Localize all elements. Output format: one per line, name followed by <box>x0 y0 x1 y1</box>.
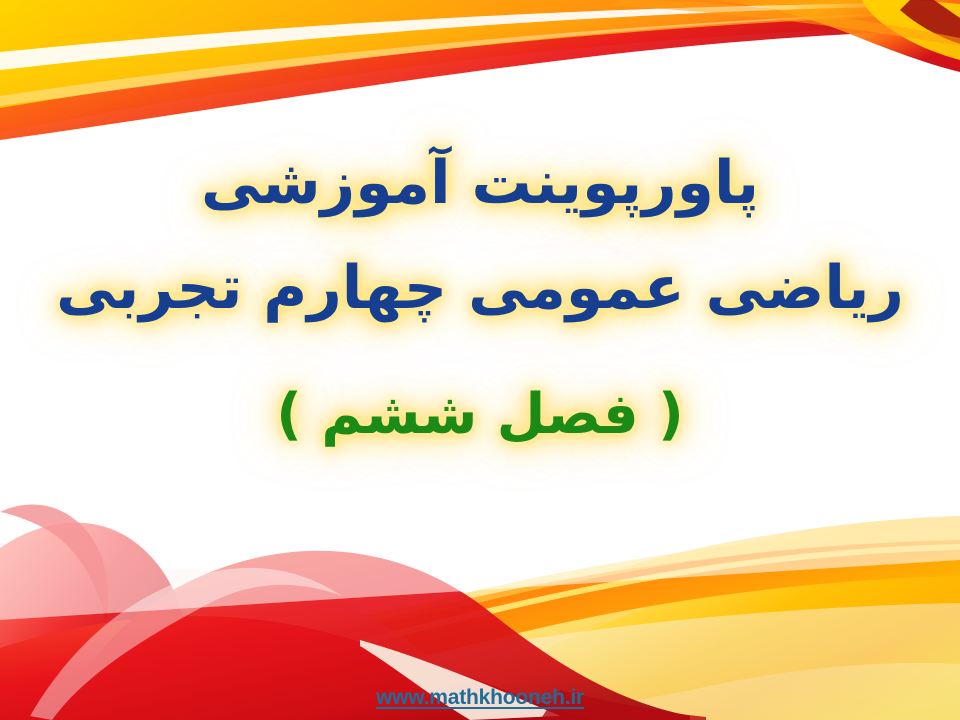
website-link[interactable]: www.mathkhooneh.ir <box>376 686 584 710</box>
title-line-1: پاورپوینت آموزشی <box>0 150 960 217</box>
subtitle-chapter: ( فصل ششم ) <box>0 384 960 447</box>
title-slide: پاورپوینت آموزشی ریاضی عمومی چهارم تجربی… <box>0 0 960 720</box>
footer: www.mathkhooneh.ir <box>0 686 960 710</box>
title-block: پاورپوینت آموزشی ریاضی عمومی چهارم تجربی… <box>0 150 960 447</box>
slide-content: پاورپوینت آموزشی ریاضی عمومی چهارم تجربی… <box>0 0 960 720</box>
title-line-2: ریاضی عمومی چهارم تجربی <box>0 255 960 322</box>
